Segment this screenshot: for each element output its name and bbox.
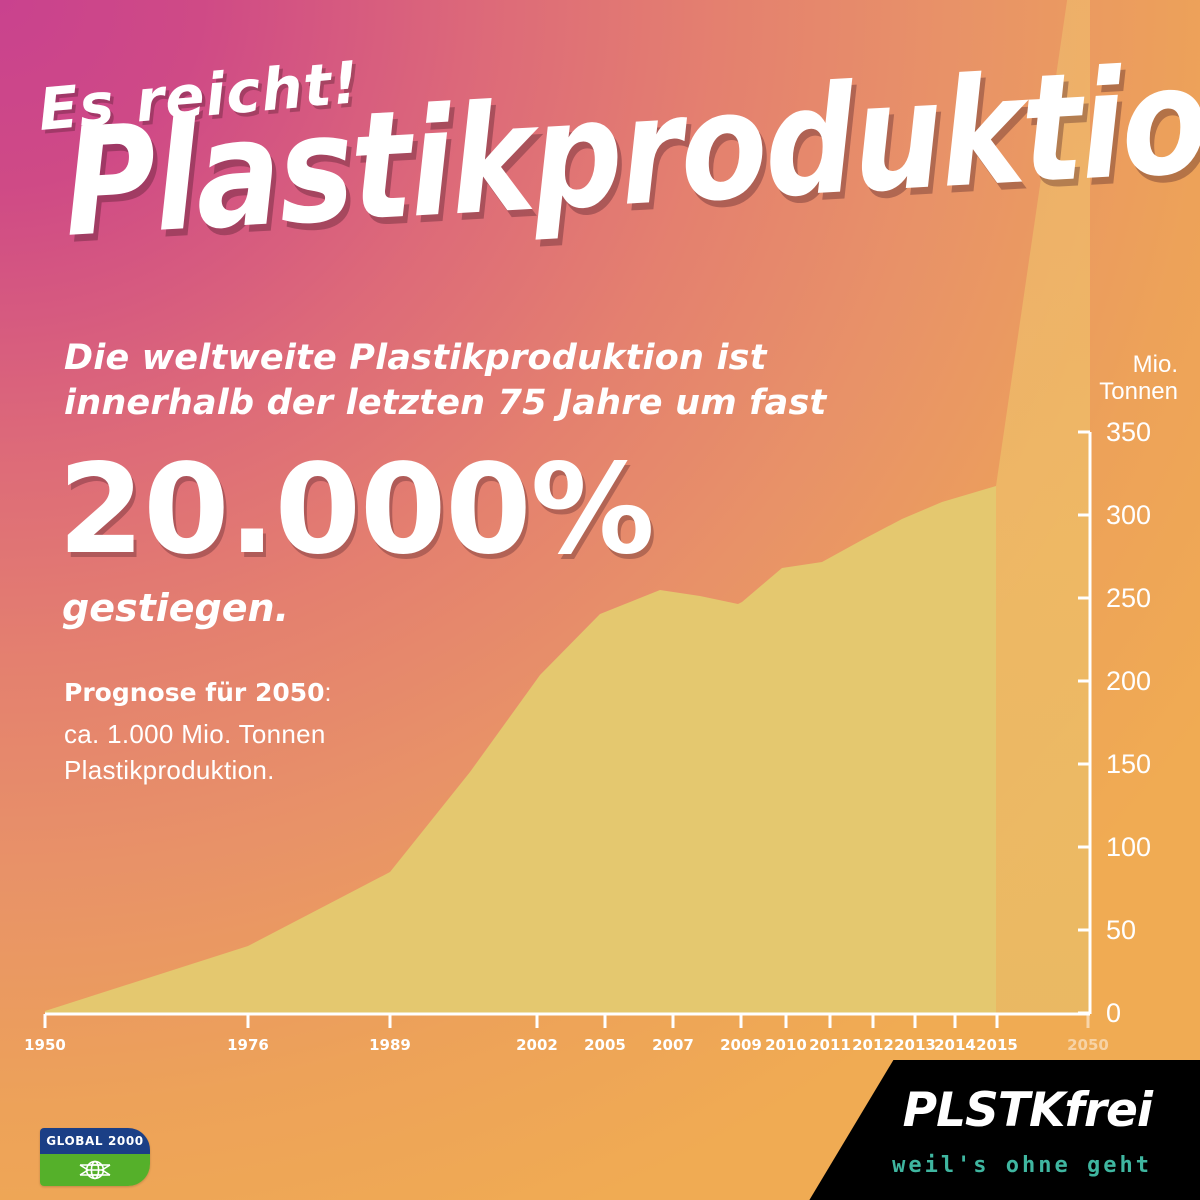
- x-tick-label-2011: 2011: [809, 1036, 851, 1054]
- prognosis-body: ca. 1.000 Mio. Tonnen Plastikproduktion.: [64, 716, 524, 789]
- x-tick-label-1950: 1950: [24, 1036, 66, 1054]
- x-tick-marks: [45, 1014, 1088, 1028]
- y-tick-label-350: 350: [1106, 417, 1176, 448]
- x-tick-label-2005: 2005: [584, 1036, 626, 1054]
- x-tick-label-2012: 2012: [852, 1036, 894, 1054]
- prognosis-body-line-2: Plastikproduktion.: [64, 752, 524, 788]
- y-axis-unit-line2: Tonnen: [1078, 379, 1178, 406]
- infographic-poster: Mio. Tonnen 350 300 250 200 150 100 50 0…: [0, 0, 1200, 1200]
- prognosis-body-line-1: ca. 1.000 Mio. Tonnen: [64, 716, 524, 752]
- prognosis-colon: :: [325, 679, 332, 707]
- x-tick-label-2050: 2050: [1067, 1036, 1109, 1054]
- y-axis-title: Mio. Tonnen: [1078, 352, 1178, 406]
- y-tick-label-250: 250: [1106, 583, 1176, 614]
- plstkfrei-tagline: weil's ohne geht: [892, 1153, 1152, 1178]
- y-tick-label-0: 0: [1106, 998, 1176, 1029]
- intro-line-2: innerhalb der letzten 75 Jahre um fast: [64, 381, 904, 426]
- x-tick-label-2013: 2013: [894, 1036, 936, 1054]
- x-tick-label-1976: 1976: [227, 1036, 269, 1054]
- x-tick-label-2014: 2014: [934, 1036, 976, 1054]
- x-tick-label-2002: 2002: [516, 1036, 558, 1054]
- x-tick-label-2010: 2010: [765, 1036, 807, 1054]
- x-tick-label-2015: 2015: [976, 1036, 1018, 1054]
- x-tick-label-2009: 2009: [720, 1036, 762, 1054]
- prognosis-heading: Prognose für 2050: [64, 678, 325, 707]
- global2000-logo[interactable]: GLOBAL 2000: [40, 1128, 150, 1186]
- y-tick-label-150: 150: [1106, 749, 1176, 780]
- intro-line-1: Die weltweite Plastikproduktion ist: [64, 336, 904, 381]
- statistic-suffix: gestiegen.: [62, 586, 289, 630]
- x-tick-label-2007: 2007: [652, 1036, 694, 1054]
- y-axis-unit-line1: Mio.: [1078, 352, 1178, 379]
- x-tick-label-1989: 1989: [369, 1036, 411, 1054]
- y-tick-label-100: 100: [1106, 832, 1176, 863]
- prognosis-block: Prognose für 2050: ca. 1.000 Mio. Tonnen…: [64, 676, 524, 789]
- plstkfrei-wordmark: PLSTKfrei: [903, 1083, 1152, 1138]
- big-statistic: 20.000%: [58, 448, 654, 572]
- intro-text: Die weltweite Plastikproduktion ist inne…: [64, 336, 904, 426]
- y-tick-label-200: 200: [1106, 666, 1176, 697]
- y-tick-label-300: 300: [1106, 500, 1176, 531]
- y-tick-label-50: 50: [1106, 915, 1176, 946]
- globe-icon: [40, 1154, 150, 1186]
- global2000-wordmark: GLOBAL 2000: [40, 1128, 150, 1154]
